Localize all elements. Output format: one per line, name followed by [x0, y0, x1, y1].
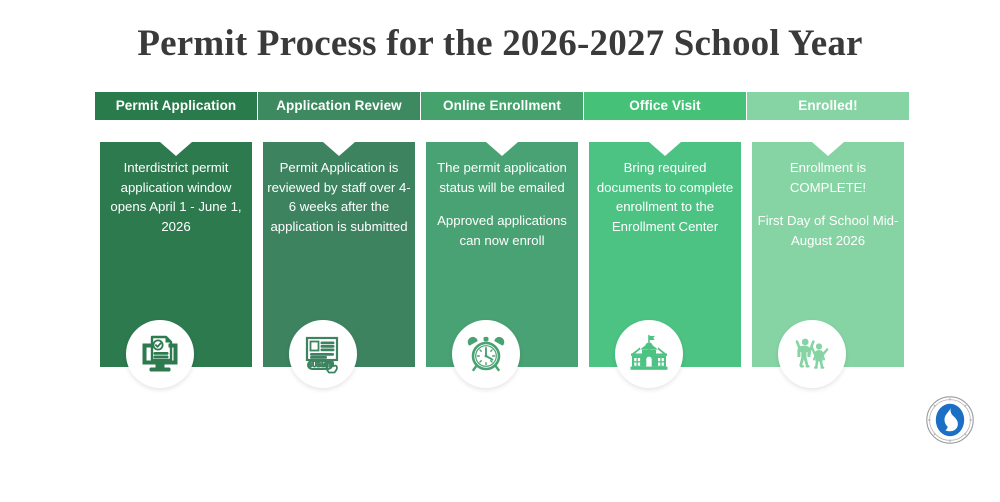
step-2-text: Permit Application is reviewed by staff …: [267, 158, 411, 236]
submit-form-hand-icon: SUBMIT: [302, 333, 344, 375]
children-celebrating-icon: [791, 333, 833, 375]
step-3-text: The permit application status will be em…: [430, 158, 574, 250]
step-3-icon-circle: [452, 320, 520, 388]
infographic-page: Permit Process for the 2026-2027 School …: [0, 0, 1000, 502]
step-3-header[interactable]: Online Enrollment: [421, 92, 583, 120]
step-4-icon-circle: [615, 320, 683, 388]
step-5-text: Enrollment is COMPLETE! First Day of Sch…: [756, 158, 900, 250]
step-1-header[interactable]: Permit Application: [95, 92, 257, 120]
alarm-clock-icon: [465, 333, 507, 375]
district-seal-logo: [924, 394, 976, 446]
monitor-certificate-icon: [139, 333, 181, 375]
step-2-icon-circle: SUBMIT: [289, 320, 357, 388]
step-4-header[interactable]: Office Visit: [584, 92, 746, 120]
school-building-icon: [628, 333, 670, 375]
process-step-3: Online Enrollment The permit application…: [421, 92, 583, 392]
process-step-2: Application Review Permit Application is…: [258, 92, 420, 392]
step-4-text: Bring required documents to complete enr…: [593, 158, 737, 236]
process-step-5: Enrolled! Enrollment is COMPLETE! First …: [747, 92, 909, 392]
step-4-paragraph-1: Bring required documents to complete enr…: [593, 158, 737, 236]
step-3-paragraph-1: The permit application status will be em…: [430, 158, 574, 197]
step-3-paragraph-2: Approved applications can now enroll: [430, 211, 574, 250]
process-step-1: Permit Application Interdistrict permit …: [95, 92, 257, 392]
step-5-header[interactable]: Enrolled!: [747, 92, 909, 120]
process-flow: Permit Application Interdistrict permit …: [95, 92, 909, 392]
step-2-header[interactable]: Application Review: [258, 92, 420, 120]
step-5-paragraph-1: Enrollment is COMPLETE!: [756, 158, 900, 197]
step-1-icon-circle: [126, 320, 194, 388]
page-title: Permit Process for the 2026-2027 School …: [0, 22, 1000, 65]
process-step-4: Office Visit Bring required documents to…: [584, 92, 746, 392]
step-1-paragraph-1: Interdistrict permit application window …: [104, 158, 248, 236]
step-5-paragraph-2: First Day of School Mid-August 2026: [756, 211, 900, 250]
step-5-icon-circle: [778, 320, 846, 388]
step-2-paragraph-1: Permit Application is reviewed by staff …: [267, 158, 411, 236]
step-1-text: Interdistrict permit application window …: [104, 158, 248, 236]
